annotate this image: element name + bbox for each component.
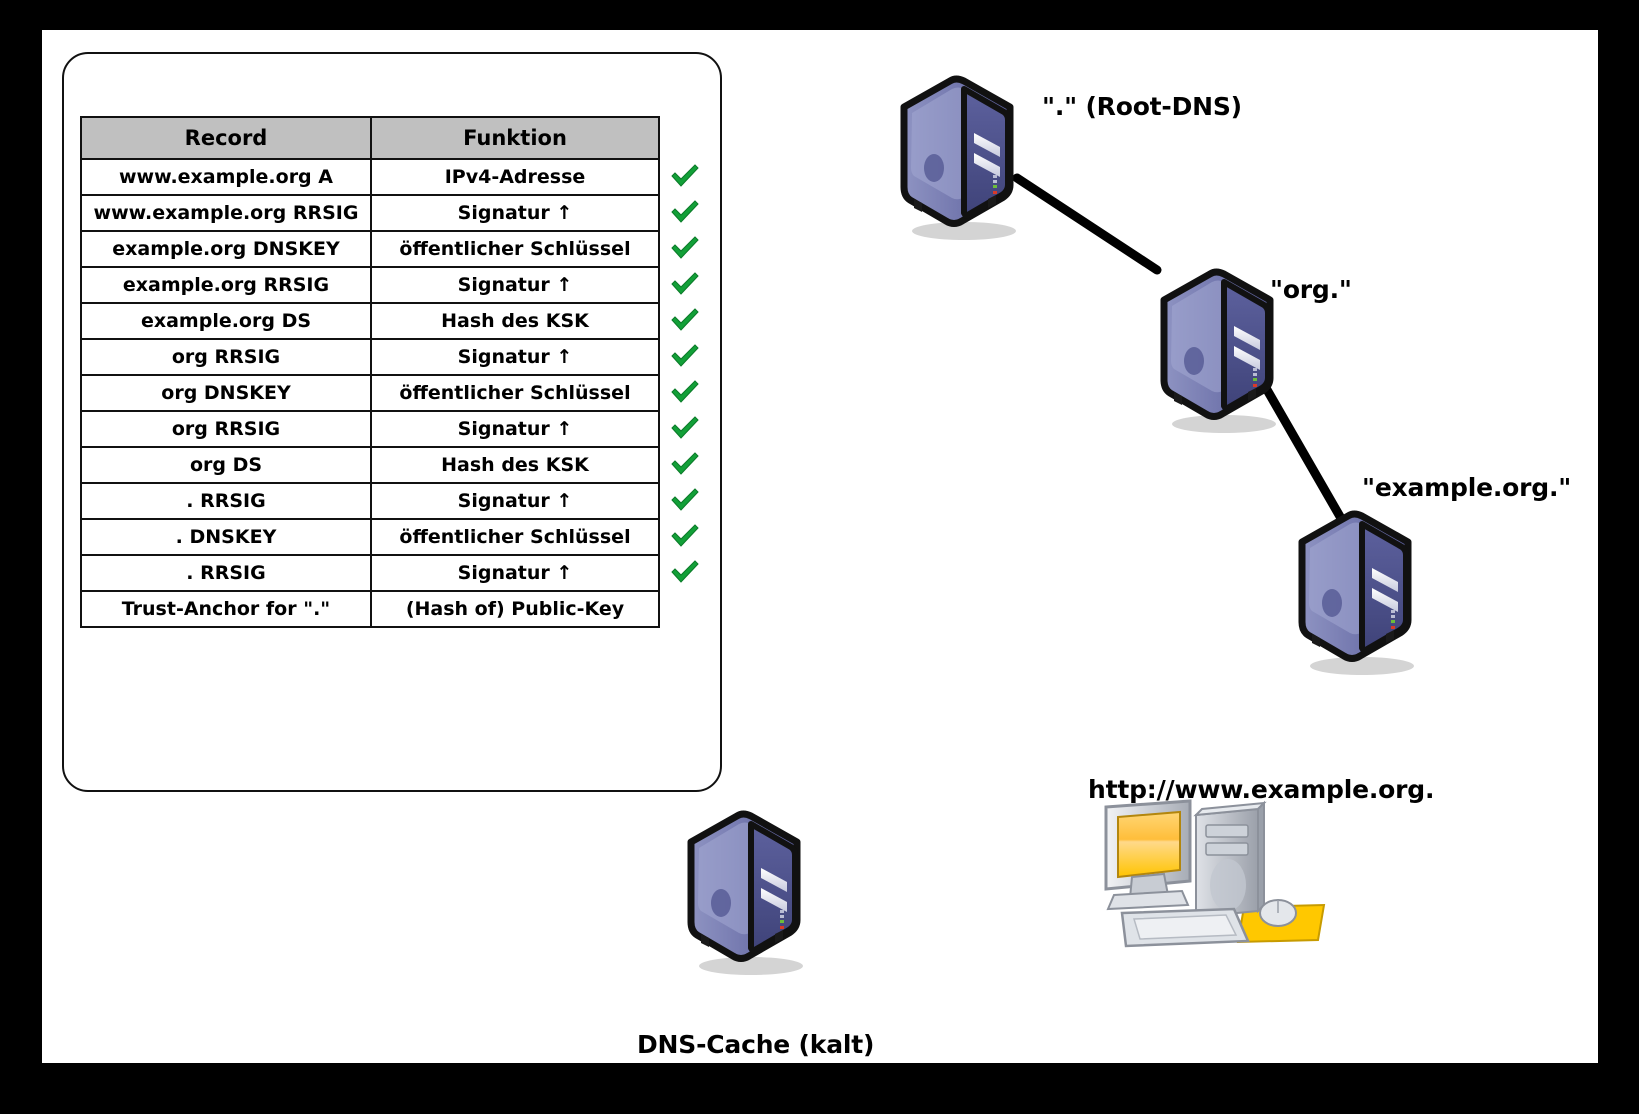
cell-funktion: Signatur ↑ — [371, 555, 659, 591]
server-icon — [892, 65, 1032, 245]
cell-funktion: öffentlicher Schlüssel — [371, 231, 659, 267]
link-root-to-org — [1017, 178, 1157, 270]
table-row: org DSHash des KSK — [81, 447, 659, 483]
verification-check-column — [664, 158, 710, 626]
table-row: www.example.org RRSIGSignatur ↑ — [81, 195, 659, 231]
table-row: . DNSKEYöffentlicher Schlüssel — [81, 519, 659, 555]
table-header-row: Record Funktion — [81, 117, 659, 159]
table-row: org DNSKEYöffentlicher Schlüssel — [81, 375, 659, 411]
check-icon — [670, 451, 700, 477]
verified-check-icon — [664, 266, 710, 302]
table-row: www.example.org AIPv4-Adresse — [81, 159, 659, 195]
column-header-funktion: Funktion — [371, 117, 659, 159]
label-example-dns: "example.org." — [1362, 473, 1571, 502]
record-table: Record Funktion www.example.org AIPv4-Ad… — [80, 116, 660, 628]
label-org-dns: "org." — [1270, 275, 1352, 304]
table-row: org RRSIGSignatur ↑ — [81, 411, 659, 447]
label-dns-cache: DNS-Cache (kalt) — [637, 1030, 874, 1059]
diagram-canvas: Record Funktion www.example.org AIPv4-Ad… — [42, 30, 1598, 1063]
server-icon — [679, 800, 819, 980]
cell-record: org DS — [81, 447, 371, 483]
cell-funktion: Signatur ↑ — [371, 411, 659, 447]
cell-funktion: öffentlicher Schlüssel — [371, 519, 659, 555]
desktop-computer-icon[interactable] — [1092, 795, 1337, 960]
verified-check-icon — [664, 446, 710, 482]
check-icon — [670, 487, 700, 513]
check-icon — [670, 163, 700, 189]
verified-check-icon — [664, 410, 710, 446]
cell-record: Trust-Anchor for "." — [81, 591, 371, 627]
check-icon — [670, 343, 700, 369]
cell-record: www.example.org RRSIG — [81, 195, 371, 231]
server-icon-dns-cache[interactable] — [679, 800, 819, 980]
check-icon — [670, 235, 700, 261]
verified-check-icon — [664, 194, 710, 230]
verified-check-icon — [664, 230, 710, 266]
table-row: Trust-Anchor for "."(Hash of) Public-Key — [81, 591, 659, 627]
verified-check-icon — [664, 374, 710, 410]
verified-check-icon — [664, 158, 710, 194]
server-icon — [1290, 500, 1430, 680]
check-icon — [670, 271, 700, 297]
server-icon-root-dns[interactable] — [892, 65, 1032, 245]
check-icon — [670, 307, 700, 333]
verified-check-icon — [664, 302, 710, 338]
cell-record: example.org DS — [81, 303, 371, 339]
cell-record: . RRSIG — [81, 555, 371, 591]
cell-funktion: Hash des KSK — [371, 447, 659, 483]
table-row: . RRSIGSignatur ↑ — [81, 555, 659, 591]
check-icon — [670, 523, 700, 549]
no-check-placeholder — [664, 590, 710, 626]
verified-check-icon — [664, 554, 710, 590]
cell-funktion: Signatur ↑ — [371, 267, 659, 303]
cell-record: example.org RRSIG — [81, 267, 371, 303]
cell-funktion: Signatur ↑ — [371, 483, 659, 519]
column-header-record: Record — [81, 117, 371, 159]
cell-record: example.org DNSKEY — [81, 231, 371, 267]
verified-check-icon — [664, 518, 710, 554]
cell-funktion: IPv4-Adresse — [371, 159, 659, 195]
check-icon — [670, 415, 700, 441]
table-row: org RRSIGSignatur ↑ — [81, 339, 659, 375]
desktop-computer-icon — [1092, 795, 1337, 960]
check-icon — [670, 199, 700, 225]
label-root-dns: "." (Root-DNS) — [1042, 92, 1242, 121]
cell-record: org RRSIG — [81, 411, 371, 447]
table-row: example.org DNSKEYöffentlicher Schlüssel — [81, 231, 659, 267]
cell-record: org RRSIG — [81, 339, 371, 375]
cell-funktion: Signatur ↑ — [371, 339, 659, 375]
cell-funktion: öffentlicher Schlüssel — [371, 375, 659, 411]
cell-record: . DNSKEY — [81, 519, 371, 555]
verified-check-icon — [664, 482, 710, 518]
table-row: example.org DSHash des KSK — [81, 303, 659, 339]
check-icon — [670, 379, 700, 405]
verified-check-icon — [664, 338, 710, 374]
cell-record: . RRSIG — [81, 483, 371, 519]
check-icon — [670, 559, 700, 585]
cell-record: www.example.org A — [81, 159, 371, 195]
server-icon-example-dns[interactable] — [1290, 500, 1430, 680]
table-row: example.org RRSIGSignatur ↑ — [81, 267, 659, 303]
record-table-panel: Record Funktion www.example.org AIPv4-Ad… — [62, 52, 722, 792]
table-row: . RRSIGSignatur ↑ — [81, 483, 659, 519]
cell-funktion: Hash des KSK — [371, 303, 659, 339]
cell-record: org DNSKEY — [81, 375, 371, 411]
cell-funktion: Signatur ↑ — [371, 195, 659, 231]
cell-funktion: (Hash of) Public-Key — [371, 591, 659, 627]
